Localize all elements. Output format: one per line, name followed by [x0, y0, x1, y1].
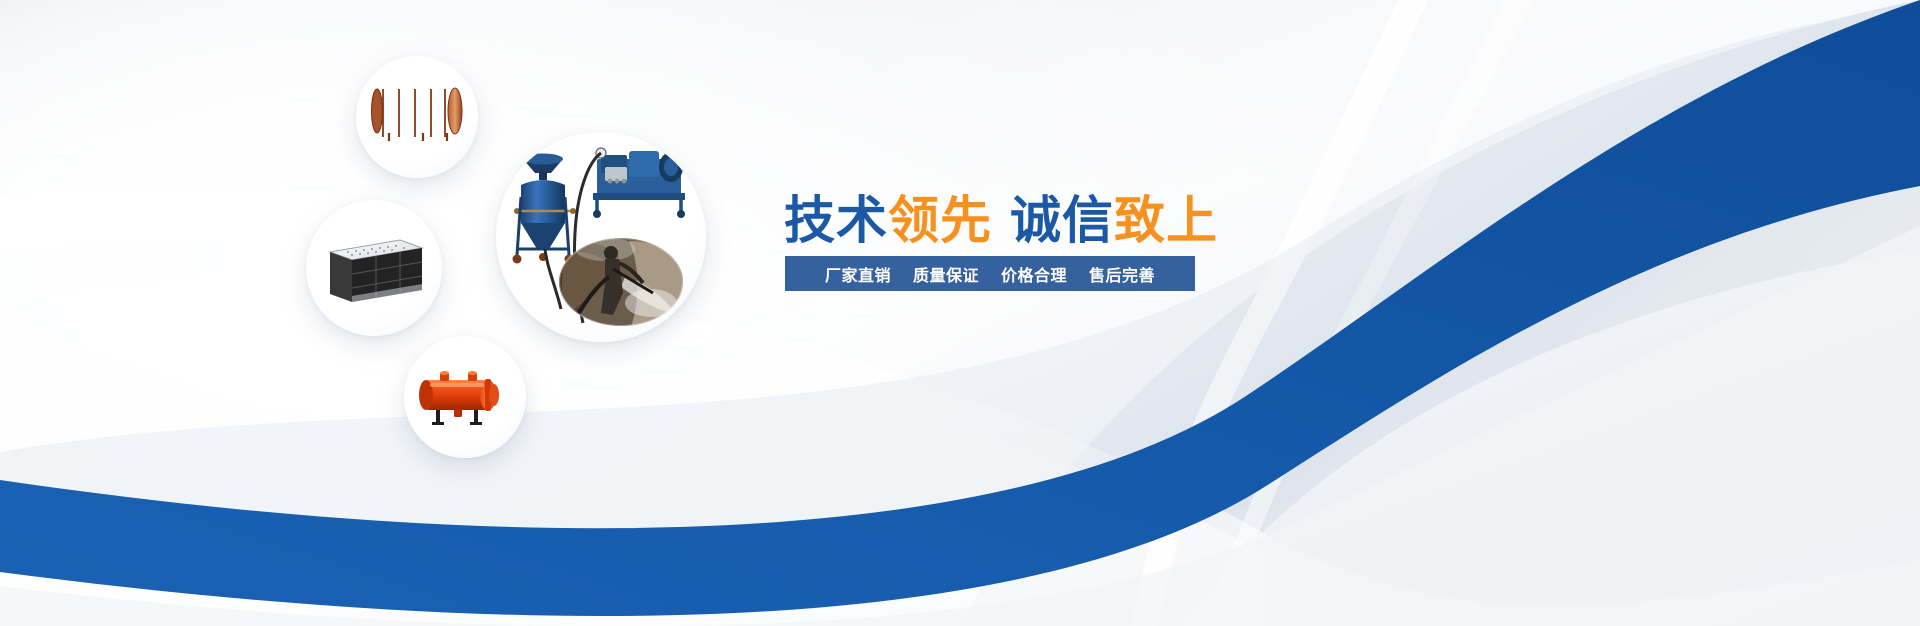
headline-segment-2: 领先 [888, 192, 992, 249]
sandblasting-machine-icon [501, 137, 701, 337]
product-bubble-cluster [300, 30, 740, 450]
hero-banner: 技术领先诚信致上 厂家直销 质量保证 价格合理 售后完善 [0, 0, 1920, 626]
cleaning-operation-photo [559, 237, 683, 327]
headline-segment-4: 致上 [1114, 192, 1218, 249]
product-bubble-tube-bundle[interactable] [356, 56, 478, 178]
headline-segment-3: 诚信 [1010, 192, 1114, 249]
tagline-item-0: 厂家直销 [814, 262, 902, 286]
copper-tube-bundle-icon [367, 81, 467, 153]
background-swoosh-art [0, 0, 1920, 626]
tagline-item-2: 价格合理 [990, 262, 1078, 286]
product-bubble-plate-cooler[interactable] [306, 200, 442, 336]
tagline-bar: 厂家直销 质量保证 价格合理 售后完善 [785, 256, 1195, 291]
product-bubble-blasting-machine[interactable] [496, 132, 706, 342]
headline: 技术领先诚信致上 [784, 188, 1214, 254]
tagline-item-1: 质量保证 [902, 262, 990, 286]
headline-segment-1: 技术 [784, 192, 888, 249]
tagline-item-3: 售后完善 [1078, 262, 1166, 286]
heat-exchanger-vessel-icon [416, 362, 514, 432]
plate-cooler-icon [322, 226, 426, 310]
product-bubble-heat-exchanger[interactable] [404, 336, 526, 458]
